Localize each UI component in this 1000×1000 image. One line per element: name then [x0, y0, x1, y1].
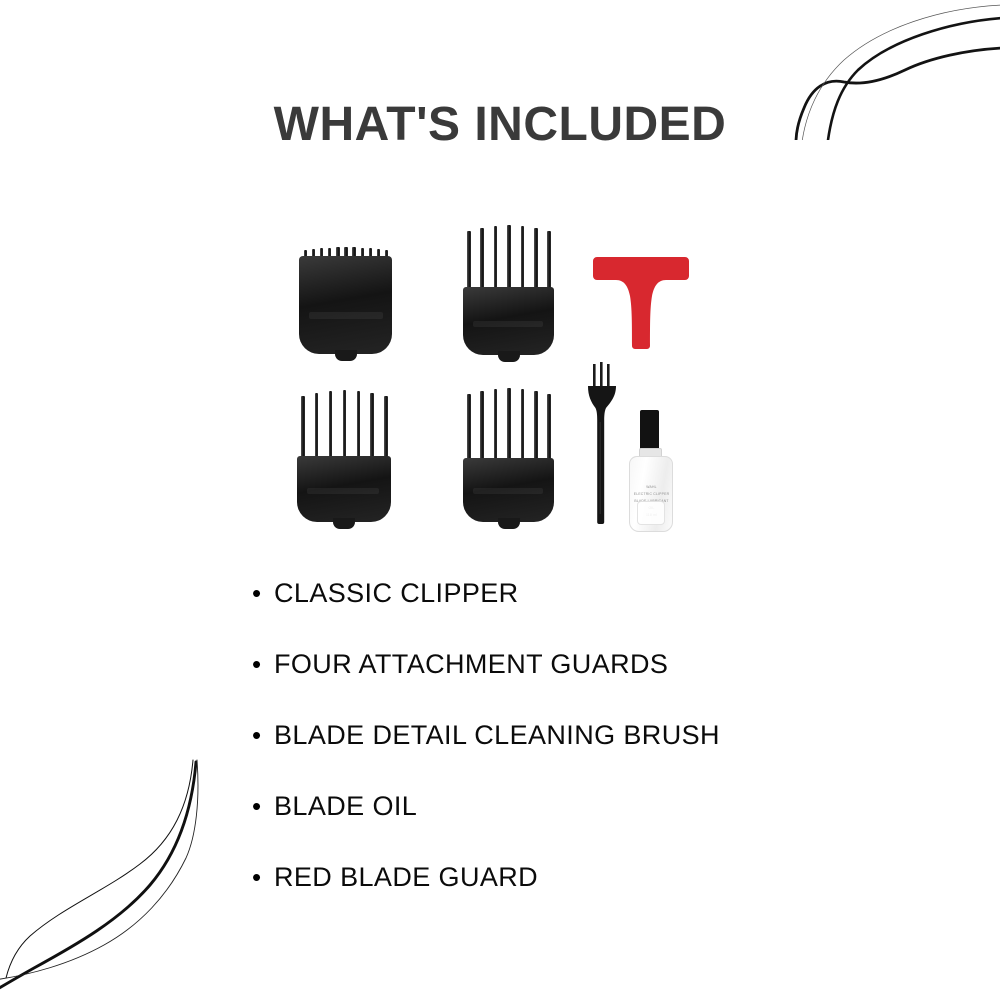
- page-title: WHAT'S INCLUDED: [0, 97, 1000, 152]
- guard-tooth: [357, 391, 361, 464]
- bullet-icon: •: [252, 722, 274, 748]
- oil-label-line-2: ELECTRIC CLIPPER: [634, 492, 669, 496]
- guard-tooth: [343, 390, 347, 464]
- bullet-icon: •: [252, 580, 274, 606]
- guard-highlight: [307, 488, 379, 494]
- product-image-group: WAHL ELECTRIC CLIPPER BLADE LUBRICANT OI…: [285, 222, 705, 542]
- guard-tooth: [370, 393, 374, 464]
- guard-tooth: [467, 394, 471, 466]
- cleaning-brush: [585, 362, 625, 530]
- guard-highlight: [473, 488, 543, 494]
- guard-tooth: [534, 391, 538, 466]
- guard-nub: [335, 350, 357, 361]
- list-item: • FOUR ATTACHMENT GUARDS: [252, 649, 952, 720]
- guard-teeth: [467, 388, 551, 466]
- list-item-label: BLADE DETAIL CLEANING BRUSH: [274, 720, 720, 751]
- list-item: • BLADE OIL: [252, 791, 952, 862]
- guard-tooth: [301, 396, 305, 464]
- guard-body: [299, 256, 392, 354]
- list-item-label: CLASSIC CLIPPER: [274, 578, 519, 609]
- guard-nub: [498, 518, 520, 529]
- bullet-icon: •: [252, 864, 274, 890]
- list-item: • CLASSIC CLIPPER: [252, 578, 952, 649]
- red-blade-guard: [592, 252, 690, 352]
- decorative-curve-bottom-left: [0, 740, 270, 1000]
- attachment-guard-small: [299, 246, 392, 369]
- guard-nub: [333, 518, 355, 529]
- guard-tooth: [480, 391, 484, 466]
- guard-tooth: [329, 391, 333, 464]
- oil-bottle-body: WAHL ELECTRIC CLIPPER BLADE LUBRICANT OI…: [629, 456, 673, 532]
- guard-tooth: [507, 388, 511, 466]
- included-items-infographic: WHAT'S INCLUDED: [0, 0, 1000, 1000]
- guard-nub: [498, 351, 520, 362]
- included-items-list: • CLASSIC CLIPPER • FOUR ATTACHMENT GUAR…: [252, 578, 952, 933]
- oil-bottle-cap: [640, 410, 659, 450]
- bullet-icon: •: [252, 793, 274, 819]
- guard-highlight: [309, 312, 383, 319]
- guard-tooth: [521, 389, 525, 466]
- guard-tooth: [315, 393, 319, 464]
- list-item-label: BLADE OIL: [274, 791, 417, 822]
- list-item-label: RED BLADE GUARD: [274, 862, 538, 893]
- attachment-guard-medium: [463, 225, 554, 370]
- attachment-guard-large: [297, 390, 391, 538]
- guard-highlight: [473, 321, 543, 327]
- list-item: • BLADE DETAIL CLEANING BRUSH: [252, 720, 952, 791]
- oil-bottle-window: [637, 501, 665, 525]
- oil-label-line-1: WAHL: [646, 485, 656, 489]
- attachment-guard-xlarge: [463, 388, 554, 538]
- guard-tooth: [494, 389, 498, 466]
- blade-oil-bottle: WAHL ELECTRIC CLIPPER BLADE LUBRICANT OI…: [625, 410, 675, 532]
- list-item-label: FOUR ATTACHMENT GUARDS: [274, 649, 668, 680]
- guard-tooth: [547, 394, 551, 466]
- guard-tooth: [384, 396, 388, 464]
- list-item: • RED BLADE GUARD: [252, 862, 952, 933]
- bullet-icon: •: [252, 651, 274, 677]
- guard-teeth: [301, 390, 388, 464]
